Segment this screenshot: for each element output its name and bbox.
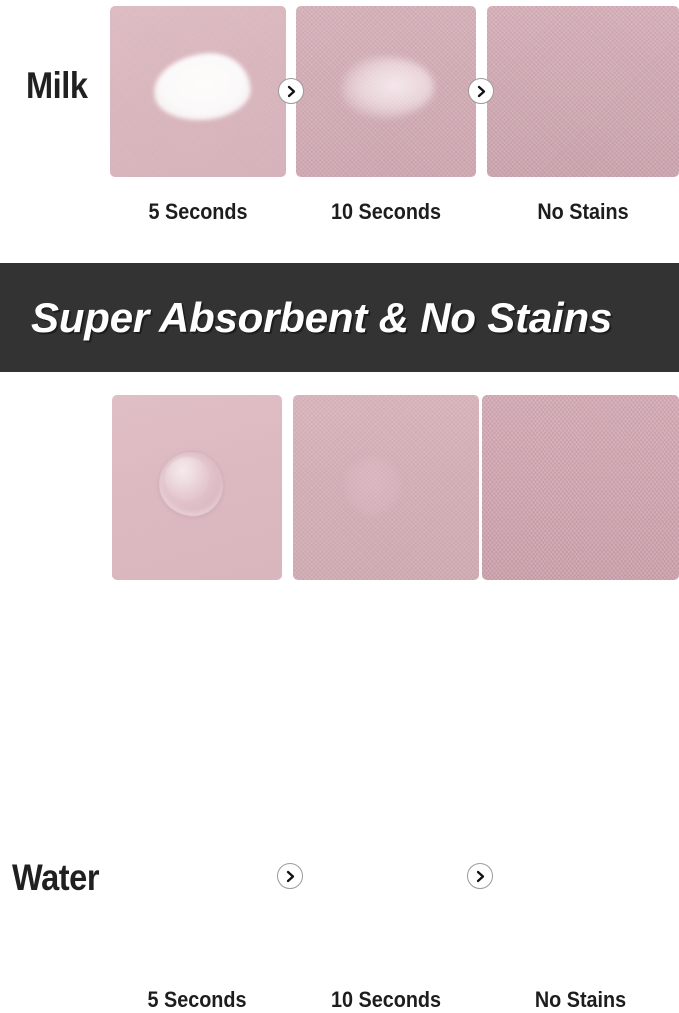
swatch-panel-milk-step-2[interactable] (296, 6, 476, 177)
swatch-panel-milk-step-1[interactable] (110, 6, 286, 177)
caption-milk-step-2: 10 Seconds (305, 199, 467, 225)
milk-stain-faded (340, 53, 436, 121)
demo-row-milk: Milk 5 Seconds 10 Seconds No Stains (0, 0, 679, 250)
caption-milk-step-1: 5 Seconds (119, 199, 277, 225)
caption-water-step-3: No Stains (492, 987, 669, 1013)
caption-milk-step-3: No Stains (497, 199, 670, 225)
chevron-right-icon (467, 863, 493, 889)
feature-banner: Super Absorbent & No Stains (0, 263, 679, 372)
milk-stain-fresh (151, 49, 253, 125)
caption-water-step-2: 10 Seconds (302, 987, 469, 1013)
chevron-right-icon (277, 863, 303, 889)
chevron-right-icon (278, 78, 304, 104)
water-bead-fresh (158, 451, 224, 517)
caption-water-step-1: 5 Seconds (121, 987, 274, 1013)
swatch-panel-water-step-2[interactable] (293, 395, 479, 580)
substance-label-water: Water (12, 858, 99, 898)
swatch-panel-water-step-1[interactable] (112, 395, 282, 580)
chevron-right-icon (468, 78, 494, 104)
banner-headline: Super Absorbent & No Stains (31, 296, 612, 340)
demo-row-water: Water 5 Seconds 10 Seconds No Stains (0, 385, 679, 626)
water-damp-ring (341, 453, 405, 519)
swatch-panel-water-step-3[interactable] (482, 395, 679, 580)
substance-label-milk: Milk (26, 66, 88, 106)
swatch-panel-milk-step-3[interactable] (487, 6, 679, 177)
